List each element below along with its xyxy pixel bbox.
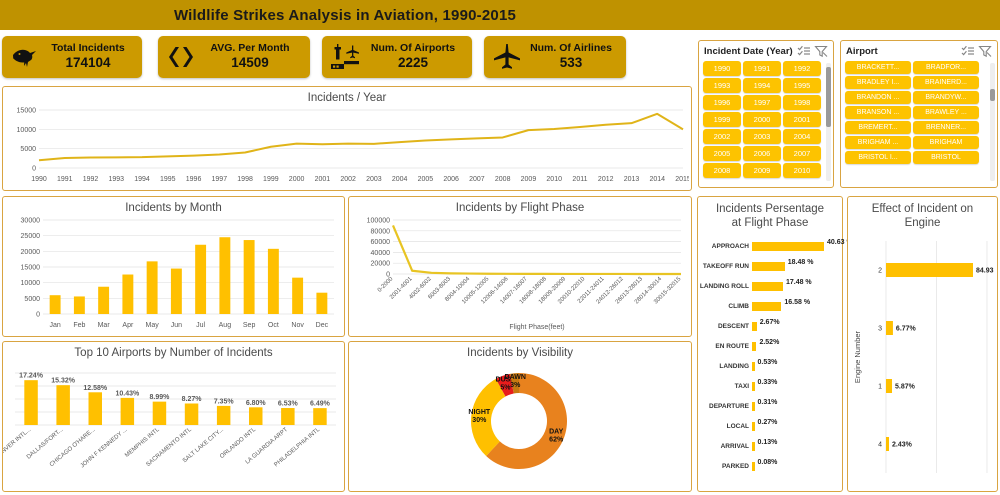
multi-select-icon[interactable] [961, 45, 975, 58]
clear-filter-icon[interactable] [814, 45, 828, 58]
svg-text:Aug: Aug [219, 322, 232, 329]
svg-text:4: 4 [878, 441, 882, 448]
slicer-items-container[interactable]: 1990199119921993199419951996199719981999… [699, 59, 833, 185]
svg-text:7.35%: 7.35% [214, 398, 235, 405]
chart-title: Effect of Incident on Engine [848, 197, 997, 231]
svg-text:DAWN: DAWN [505, 374, 526, 381]
svg-text:2012: 2012 [598, 176, 614, 183]
percentage-bar-row[interactable]: DEPARTURE0.31% [698, 397, 842, 417]
svg-text:2003: 2003 [366, 176, 382, 183]
svg-text:1: 1 [878, 383, 882, 390]
chart-title-line1: Effect of Incident on [848, 202, 997, 216]
percentage-bar-row[interactable]: CLIMB16.58 % [698, 297, 842, 317]
incidents-by-visibility-donut: DAY62%NIGHT30%DUSK5%DAWN3% [349, 359, 689, 487]
svg-text:6.53%: 6.53% [278, 401, 299, 408]
slicer-airport-item[interactable]: BRISTOL I... [845, 151, 911, 164]
percentage-bar-row[interactable]: LANDING ROLL17.48 % [698, 277, 842, 297]
chart-panel-effect-of-incident-on-engine[interactable]: Effect of Incident on Engine 284.93 %36.… [847, 196, 998, 492]
svg-text:6.77%: 6.77% [896, 325, 917, 332]
slicer-scroll-thumb[interactable] [990, 89, 995, 101]
slicer-airport-item[interactable]: BRAWLEY ... [913, 106, 979, 119]
kpi-label: Total Incidents [42, 43, 134, 54]
svg-text:20000: 20000 [21, 249, 41, 256]
bar-category-label: PARKED [698, 463, 752, 470]
svg-text:Apr: Apr [122, 322, 134, 329]
svg-text:2002: 2002 [340, 176, 356, 183]
chart-panel-incidents-by-flight-phase[interactable]: Incidents by Flight Phase 02000040000600… [348, 196, 692, 337]
bar-category-label: DESCENT [698, 323, 752, 330]
svg-text:1991: 1991 [57, 176, 73, 183]
svg-text:Flight Phase(feet): Flight Phase(feet) [509, 324, 564, 331]
bar-value-label: 0.27% [758, 419, 792, 427]
svg-text:15000: 15000 [17, 108, 37, 115]
bar-fill [752, 342, 756, 351]
slicer-airport-item[interactable]: BREMERT... [845, 121, 911, 134]
bar-category-label: ARRIVAL [698, 443, 752, 450]
slicer-scrollbar[interactable] [990, 63, 995, 181]
slicer-airport-item[interactable]: BRAINERD... [913, 76, 979, 89]
svg-text:2006: 2006 [443, 176, 459, 183]
kpi-card-avg-per-month[interactable]: AVG. Per Month 14509 [158, 36, 310, 78]
chart-title-line1: Incidents Persentage [698, 202, 842, 216]
slicer-year-item[interactable]: 2002 [703, 129, 741, 144]
svg-text:84.93 %: 84.93 % [976, 267, 995, 274]
page-title: Wildlife Strikes Analysis in Aviation, 1… [174, 7, 516, 24]
slicer-year-item[interactable]: 1993 [703, 78, 741, 93]
svg-text:1996: 1996 [186, 176, 202, 183]
clear-filter-icon[interactable] [978, 45, 992, 58]
bar-value-label: 17.48 % [786, 279, 820, 287]
slicer-airport[interactable]: Airport BRACKETT...BRADFOR...BRADLEY I..… [840, 40, 998, 188]
incidents-by-flight-phase-plot: 0200004000060000800001000000-20002001-40… [349, 214, 689, 332]
svg-text:Engine Number: Engine Number [853, 330, 862, 383]
svg-text:15000: 15000 [21, 265, 41, 272]
bar-value-label: 0.53% [758, 359, 792, 367]
bar-category-label: TAKEOFF RUN [698, 263, 752, 270]
slicer-header: Airport [841, 41, 997, 59]
slicer-year-item[interactable]: 1999 [703, 112, 741, 127]
slicer-items-container[interactable]: BRACKETT...BRADFOR...BRADLEY I...BRAINER… [841, 59, 997, 185]
slicer-year-item[interactable]: 2010 [783, 163, 821, 178]
svg-text:62%: 62% [549, 437, 564, 444]
svg-text:2001: 2001 [315, 176, 331, 183]
slicer-airport-item[interactable]: BRANSON ... [845, 106, 911, 119]
percentage-bar-list: APPROACH40.63 %TAKEOFF RUN18.48 %LANDING… [698, 237, 842, 477]
bar-category-label: LANDING [698, 363, 752, 370]
percentage-bar-row[interactable]: PARKED0.08% [698, 457, 842, 477]
bar-fill [752, 322, 757, 331]
slicer-year-item[interactable]: 2009 [743, 163, 781, 178]
slicer-incident-date-year[interactable]: Incident Date (Year) 1990199119921993199… [698, 40, 834, 188]
percentage-bar-row[interactable]: LOCAL0.27% [698, 417, 842, 437]
bird-icon [10, 41, 40, 73]
slicer-airport-item[interactable]: BRACKETT... [845, 61, 911, 74]
svg-text:1997: 1997 [212, 176, 228, 183]
svg-text:1992: 1992 [83, 176, 99, 183]
percentage-bar-row[interactable]: EN ROUTE2.52% [698, 337, 842, 357]
slicer-year-item[interactable]: 1990 [703, 61, 741, 76]
svg-text:3%: 3% [510, 382, 521, 389]
bar-track: 40.63 % [752, 237, 842, 257]
bar-fill [752, 402, 755, 411]
dashboard-root: Wildlife Strikes Analysis in Aviation, 1… [0, 0, 1000, 495]
svg-text:NIGHT: NIGHT [468, 409, 491, 416]
bar-track: 0.33% [752, 377, 842, 397]
bar-track: 0.31% [752, 397, 842, 417]
percentage-bar-row[interactable]: TAXI0.33% [698, 377, 842, 397]
percentage-bar-row[interactable]: DESCENT2.67% [698, 317, 842, 337]
svg-text:5000: 5000 [24, 296, 40, 303]
svg-text:80000: 80000 [371, 228, 391, 235]
kpi-card-num-airlines[interactable]: Num. Of Airlines 533 [484, 36, 626, 78]
slicer-year-item[interactable]: 1996 [703, 95, 741, 110]
svg-text:5000: 5000 [20, 146, 36, 153]
slicer-title: Incident Date (Year) [704, 46, 794, 57]
bar-track: 16.58 % [752, 297, 842, 317]
slicer-year-item[interactable]: 1998 [783, 95, 821, 110]
slicer-year-item[interactable]: 1992 [783, 61, 821, 76]
svg-text:Mar: Mar [98, 322, 111, 329]
slicer-year-item[interactable]: 1994 [743, 78, 781, 93]
chart-title: Incidents by Month [3, 197, 344, 214]
svg-text:2.43%: 2.43% [892, 441, 913, 448]
bar-fill [752, 462, 755, 471]
bar-fill [752, 242, 824, 251]
svg-text:1990: 1990 [31, 176, 47, 183]
svg-text:1993: 1993 [108, 176, 124, 183]
slicer-year-item[interactable]: 1995 [783, 78, 821, 93]
slicer-year-item[interactable]: 1991 [743, 61, 781, 76]
slicer-airport-item[interactable]: BRANDYW... [913, 91, 979, 104]
bar-fill [752, 302, 781, 311]
svg-text:Dec: Dec [316, 322, 329, 329]
slicer-airport-item[interactable]: BRIGHAM [913, 136, 979, 149]
svg-text:8.27%: 8.27% [182, 396, 203, 403]
svg-text:Jun: Jun [171, 322, 182, 329]
svg-text:0: 0 [32, 166, 36, 173]
svg-text:2004: 2004 [392, 176, 408, 183]
svg-text:2: 2 [878, 267, 882, 274]
chart-panel-incidents-by-month[interactable]: Incidents by Month 050001000015000200002… [2, 196, 345, 337]
bar-category-label: EN ROUTE [698, 343, 752, 350]
bar-track: 0.27% [752, 417, 842, 437]
bar-category-label: CLIMB [698, 303, 752, 310]
bar-fill [752, 362, 755, 371]
svg-text:12.58%: 12.58% [83, 385, 108, 392]
percentage-bar-row[interactable]: LANDING0.53% [698, 357, 842, 377]
bar-track: 18.48 % [752, 257, 842, 277]
svg-text:1999: 1999 [263, 176, 279, 183]
kpi-card-num-airports[interactable]: Num. Of Airports 2225 [322, 36, 472, 78]
svg-text:0: 0 [36, 312, 40, 319]
bar-track: 0.08% [752, 457, 842, 477]
incidents-by-month-plot: 050001000015000200002500030000JanFebMarA… [3, 214, 342, 332]
airplane-icon [492, 41, 522, 73]
slicer-item-grid[interactable]: BRACKETT...BRADFOR...BRADLEY I...BRAINER… [845, 61, 994, 164]
slicer-scroll-thumb[interactable] [826, 67, 831, 127]
slicer-year-item[interactable]: 2006 [743, 146, 781, 161]
slicer-header: Incident Date (Year) [699, 41, 833, 59]
svg-text:May: May [146, 322, 160, 329]
kpi-value: 2225 [362, 56, 464, 70]
chart-panel-incidents-per-year[interactable]: Incidents / Year 05000100001500019901991… [2, 86, 692, 191]
kpi-card-total-incidents[interactable]: Total Incidents 174104 [2, 36, 142, 78]
svg-text:10000: 10000 [21, 280, 41, 287]
svg-text:Feb: Feb [73, 322, 85, 329]
slicer-year-item[interactable]: 2004 [783, 129, 821, 144]
percentage-bar-row[interactable]: APPROACH40.63 % [698, 237, 842, 257]
slicer-airport-item[interactable]: BRIGHAM ... [845, 136, 911, 149]
kpi-value: 174104 [42, 56, 134, 70]
bar-fill [752, 382, 755, 391]
bar-track: 0.53% [752, 357, 842, 377]
bar-track: 2.67% [752, 317, 842, 337]
bar-track: 2.52% [752, 337, 842, 357]
slicer-airport-item[interactable]: BRADFOR... [913, 61, 979, 74]
slicer-year-item[interactable]: 2005 [703, 146, 741, 161]
incidents-per-year-plot: 0500010000150001990199119921993199419951… [3, 104, 689, 186]
slicer-year-item[interactable]: 2007 [783, 146, 821, 161]
chart-title: Top 10 Airports by Number of Incidents [3, 342, 344, 359]
svg-text:15.32%: 15.32% [51, 378, 76, 385]
svg-text:2000: 2000 [289, 176, 305, 183]
slicer-year-item[interactable]: 1997 [743, 95, 781, 110]
multi-select-icon[interactable] [797, 45, 811, 58]
slicer-year-item[interactable]: 2001 [783, 112, 821, 127]
svg-text:20000: 20000 [371, 261, 391, 268]
slicer-year-item[interactable]: 2008 [703, 163, 741, 178]
slicer-year-item[interactable]: 2000 [743, 112, 781, 127]
svg-text:60000: 60000 [371, 239, 391, 246]
svg-text:10000: 10000 [17, 127, 37, 134]
svg-text:2009: 2009 [521, 176, 537, 183]
chart-title: Incidents by Flight Phase [349, 197, 691, 214]
svg-text:40000: 40000 [371, 250, 391, 257]
svg-text:Oct: Oct [268, 322, 279, 329]
effect-on-engine-plot: 284.93 %36.77%15.87%42.43%Engine Number [848, 231, 995, 481]
bar-fill [752, 282, 783, 291]
svg-text:30%: 30% [472, 417, 487, 424]
chart-title: Incidents Persentage at Flight Phase [698, 197, 842, 231]
control-tower-icon [330, 41, 360, 73]
kpi-value: 14509 [198, 56, 302, 70]
percentage-bar-row[interactable]: ARRIVAL0.13% [698, 437, 842, 457]
svg-text:2014: 2014 [649, 176, 665, 183]
svg-text:DAY: DAY [549, 429, 563, 436]
chevrons-icon [166, 41, 196, 73]
bar-value-label: 2.52% [759, 339, 793, 347]
svg-text:2011: 2011 [572, 176, 587, 183]
chart-panel-top-10-airports[interactable]: Top 10 Airports by Number of Incidents 1… [2, 341, 345, 492]
slicer-airport-item[interactable]: BRISTOL [913, 151, 979, 164]
svg-text:2010: 2010 [546, 176, 562, 183]
svg-text:Jul: Jul [196, 322, 205, 329]
chart-title: Incidents by Visibility [349, 342, 691, 359]
kpi-label: Num. Of Airlines [524, 43, 618, 54]
kpi-value: 533 [524, 56, 618, 70]
slicer-item-grid[interactable]: 1990199119921993199419951996199719981999… [703, 61, 830, 178]
bar-value-label: 16.58 % [784, 299, 818, 307]
kpi-row: Total Incidents 174104 AVG. Per Month 14… [0, 36, 690, 80]
kpi-label: Num. Of Airports [362, 43, 464, 54]
svg-text:Nov: Nov [291, 322, 304, 329]
svg-text:10.43%: 10.43% [115, 390, 140, 397]
slicer-scrollbar[interactable] [826, 63, 831, 181]
top-10-airports-plot: 17.24%DENVER INTL...15.32%DALLAS/FORT...… [3, 359, 342, 487]
svg-text:6.49%: 6.49% [310, 401, 331, 408]
svg-text:2007: 2007 [469, 176, 485, 183]
svg-text:1995: 1995 [160, 176, 176, 183]
percentage-bar-row[interactable]: TAKEOFF RUN18.48 % [698, 257, 842, 277]
bar-track: 0.13% [752, 437, 842, 457]
chart-panel-incidents-by-visibility[interactable]: Incidents by Visibility DAY62%NIGHT30%DU… [348, 341, 692, 492]
svg-text:Jan: Jan [49, 322, 60, 329]
slicer-airport-item[interactable]: BRADLEY I... [845, 76, 911, 89]
svg-text:1998: 1998 [237, 176, 253, 183]
svg-text:2013: 2013 [624, 176, 640, 183]
svg-text:25000: 25000 [21, 233, 41, 240]
bar-category-label: LANDING ROLL [698, 283, 752, 290]
bar-category-label: APPROACH [698, 243, 752, 250]
chart-title-line2: at Flight Phase [698, 216, 842, 230]
svg-text:30000: 30000 [21, 218, 41, 225]
svg-text:2008: 2008 [495, 176, 511, 183]
svg-text:2015: 2015 [675, 176, 689, 183]
svg-text:3: 3 [878, 325, 882, 332]
svg-text:100000: 100000 [367, 218, 390, 225]
bar-value-label: 0.33% [758, 379, 792, 387]
svg-text:6.80%: 6.80% [246, 400, 267, 407]
slicer-airport-item[interactable]: BRENNER... [913, 121, 979, 134]
dashboard-header: Wildlife Strikes Analysis in Aviation, 1… [0, 0, 690, 30]
bar-fill [752, 422, 755, 431]
bar-value-label: 2.67% [760, 319, 794, 327]
svg-text:2005: 2005 [418, 176, 434, 183]
kpi-label: AVG. Per Month [198, 43, 302, 54]
bar-value-label: 0.08% [758, 459, 792, 467]
slicer-year-item[interactable]: 2003 [743, 129, 781, 144]
bar-track: 17.48 % [752, 277, 842, 297]
bar-fill [752, 442, 755, 451]
slicer-title: Airport [846, 46, 958, 57]
bar-value-label: 0.31% [758, 399, 792, 407]
header-right-band [690, 0, 1000, 30]
bar-value-label: 0.13% [758, 439, 792, 447]
bar-category-label: LOCAL [698, 423, 752, 430]
chart-title: Incidents / Year [3, 87, 691, 104]
svg-text:Sep: Sep [243, 322, 256, 329]
chart-panel-incidents-percentage-flight-phase[interactable]: Incidents Persentage at Flight Phase APP… [697, 196, 843, 492]
svg-text:8.99%: 8.99% [150, 394, 171, 401]
svg-text:1994: 1994 [134, 176, 150, 183]
bar-category-label: TAXI [698, 383, 752, 390]
svg-text:5.87%: 5.87% [895, 383, 916, 390]
slicer-airport-item[interactable]: BRANDON ... [845, 91, 911, 104]
bar-value-label: 18.48 % [788, 259, 822, 267]
bar-fill [752, 262, 785, 271]
svg-text:17.24%: 17.24% [19, 373, 44, 380]
chart-title-line2: Engine [848, 216, 997, 230]
bar-category-label: DEPARTURE [698, 403, 752, 410]
